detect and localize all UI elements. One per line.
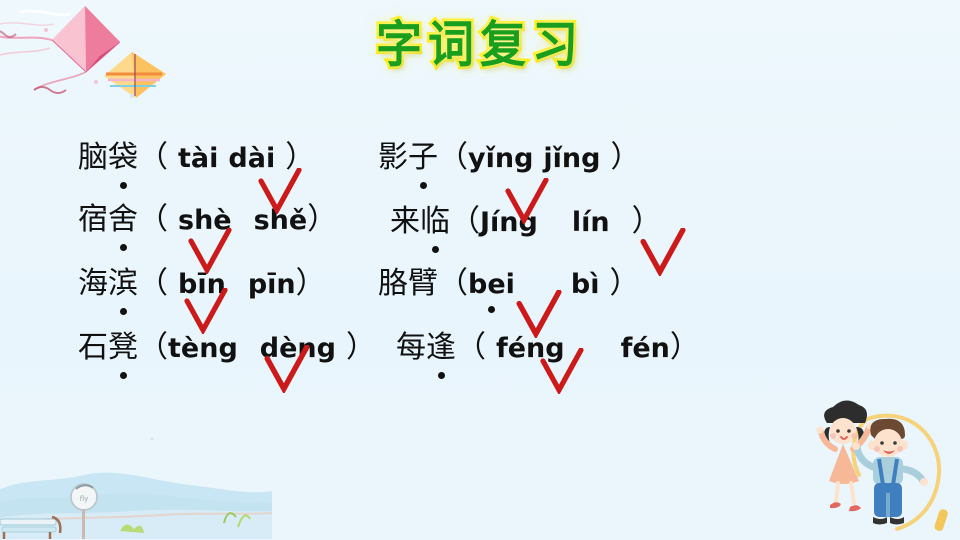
word-char-dotted: 滨 <box>108 258 138 302</box>
word-item-lailin[interactable]: 来临（Jínglín） <box>390 196 662 240</box>
pinyin-option-b[interactable]: jǐng <box>543 143 600 174</box>
word-item-shideng[interactable]: 石凳（tèngdèng） <box>78 322 376 366</box>
open-paren: （ <box>438 266 468 301</box>
pinyin-option-b[interactable]: shě <box>254 205 308 236</box>
pinyin-option-a[interactable]: yǐng <box>468 143 533 174</box>
close-paren: ） <box>670 330 700 365</box>
close-paren: ） <box>296 266 326 301</box>
open-paren: （ <box>456 330 486 365</box>
word-row: 石凳（tèngdèng） 每逢（féngfén） <box>78 318 898 380</box>
word-item-haibin[interactable]: 海滨（bīnpīn） <box>78 258 326 302</box>
word-char-dotted: 袋 <box>108 132 138 176</box>
word-item-meifeng[interactable]: 每逢（féngfén） <box>396 322 700 366</box>
pinyin-option-a[interactable]: féng <box>496 333 565 364</box>
open-paren: （ <box>138 330 168 365</box>
pinyin-option-a[interactable]: Jíng <box>480 207 538 238</box>
open-paren: （ <box>450 204 480 239</box>
word-item-sushe[interactable]: 宿舍（shèshě） <box>78 194 337 238</box>
pinyin-option-a[interactable]: shè <box>178 205 232 236</box>
word-row: 海滨（bīnpīn） 胳臂（beibì） <box>78 256 898 318</box>
open-paren: （ <box>138 202 168 237</box>
pinyin-option-b[interactable]: pīn <box>248 269 296 300</box>
close-paren: ） <box>610 140 640 175</box>
word-char: 脑 <box>78 140 108 175</box>
close-paren: ） <box>610 266 640 301</box>
pinyin-option-b[interactable]: lín <box>572 207 610 238</box>
word-char-dotted: 逢 <box>426 322 456 366</box>
close-paren: ） <box>346 330 376 365</box>
word-review-grid: 脑袋（tàidài） 影子（yǐngjǐng） 宿舍（shèshě） 来临（Jí… <box>78 132 898 380</box>
word-item-yingzi[interactable]: 影子（yǐngjǐng） <box>378 132 640 176</box>
word-char: 石 <box>78 330 108 365</box>
word-item-naodai[interactable]: 脑袋（tàidài） <box>78 132 315 176</box>
word-char: 宿 <box>78 202 108 237</box>
word-row: 脑袋（tàidài） 影子（yǐngjǐng） <box>78 132 898 194</box>
word-char: 臂 <box>408 266 438 301</box>
pinyin-option-a[interactable]: tèng <box>168 333 238 364</box>
word-char: 胳 <box>378 266 408 301</box>
word-char: 影 <box>378 140 408 175</box>
page-title: 字词复习 <box>376 5 584 76</box>
word-row: 宿舍（shèshě） 来临（Jínglín） <box>78 194 898 256</box>
word-item-gebei[interactable]: 胳臂（beibì） <box>378 258 640 302</box>
open-paren: （ <box>438 140 468 175</box>
pinyin-option-a[interactable]: bei <box>468 269 515 300</box>
pinyin-option-a[interactable]: tài <box>178 143 218 174</box>
pinyin-option-b[interactable]: bì <box>571 269 600 300</box>
slide-title-area: 字词复习 <box>0 8 960 74</box>
watercolor-park-landscape-illustration: fly <box>0 419 272 540</box>
word-char: 每 <box>396 330 426 365</box>
word-char-dotted: 凳 <box>108 322 138 366</box>
word-char-dotted: 临 <box>420 196 450 240</box>
pinyin-option-a[interactable]: bīn <box>178 269 226 300</box>
svg-text:fly: fly <box>80 495 89 503</box>
open-paren: （ <box>138 266 168 301</box>
pinyin-option-b[interactable]: dèng <box>260 333 336 364</box>
kite-illustration <box>0 0 170 109</box>
pinyin-option-b[interactable]: dài <box>228 143 275 174</box>
word-char-dotted: 舍 <box>108 194 138 238</box>
children-jumping-rope-illustration <box>789 397 960 540</box>
slide-canvas: 字词复习 脑袋（tàidài） 影子（yǐngjǐng） 宿舍（shèshě） … <box>0 0 960 540</box>
close-paren: ） <box>285 140 315 175</box>
close-paren: ） <box>307 202 337 237</box>
word-char: 来 <box>390 204 420 239</box>
word-char-dotted: 子 <box>408 132 438 176</box>
pinyin-option-b[interactable]: fén <box>621 333 670 364</box>
close-paren: ） <box>632 204 662 239</box>
word-char: 海 <box>78 266 108 301</box>
open-paren: （ <box>138 140 168 175</box>
